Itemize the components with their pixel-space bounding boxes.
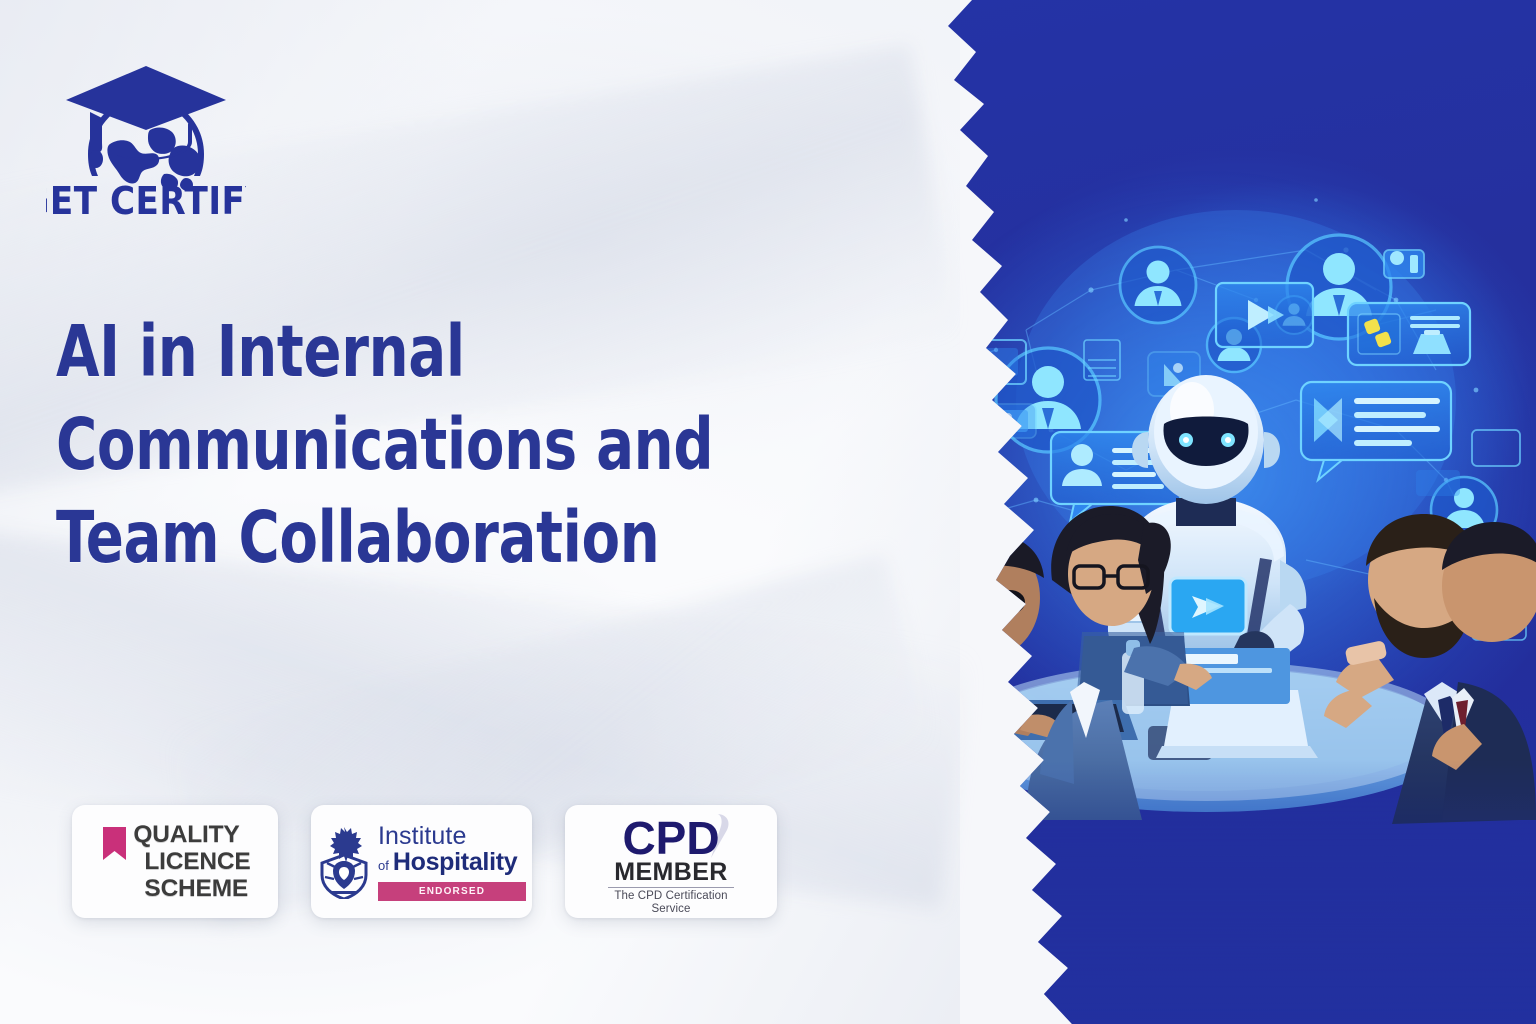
poster-canvas: GET CERTIFY AI in Internal Communication… (0, 0, 1536, 1024)
accreditation-badges: QUALITY LICENCE SCHEME (72, 805, 777, 918)
badge-institute-of-hospitality[interactable]: Institute of Hospitality ENDORSED (311, 805, 532, 918)
cpd-sub-line-2: Service (614, 903, 727, 916)
qls-line-1: QUALITY (133, 821, 250, 848)
ioh-hospitality-text: Hospitality (393, 849, 518, 876)
page-title: AI in Internal Communications and Team C… (56, 305, 725, 584)
ioh-of-text: of (378, 858, 389, 873)
qls-line-3: SCHEME (133, 875, 250, 902)
graduation-cap-globe-icon (66, 66, 226, 191)
page-title-line-3: Team Collaboration (56, 491, 725, 584)
ioh-institute-text: Institute (378, 823, 466, 849)
page-title-line-1: AI in Internal (56, 305, 725, 398)
badge-quality-licence-scheme[interactable]: QUALITY LICENCE SCHEME (72, 805, 278, 918)
ioh-endorsed-ribbon: ENDORSED (378, 882, 526, 901)
brand-name: GET CERTIFY (46, 179, 246, 223)
svg-text:CPD: CPD (622, 812, 719, 862)
cpd-member-text: MEMBER (614, 859, 728, 885)
blue-panel (876, 0, 1536, 1024)
cpd-sub-line-1: The CPD Certification (614, 890, 727, 903)
heraldic-crest-icon (317, 825, 371, 899)
qls-line-2: LICENCE (133, 848, 250, 875)
page-title-line-2: Communications and (56, 398, 725, 491)
bookmark-icon (103, 827, 126, 860)
cpd-divider (608, 887, 734, 888)
brand-logo[interactable]: GET CERTIFY (46, 52, 246, 224)
badge-cpd-member[interactable]: CPD MEMBER The CPD Certification Service (565, 805, 777, 918)
cpd-logo-icon: CPD (591, 812, 751, 862)
